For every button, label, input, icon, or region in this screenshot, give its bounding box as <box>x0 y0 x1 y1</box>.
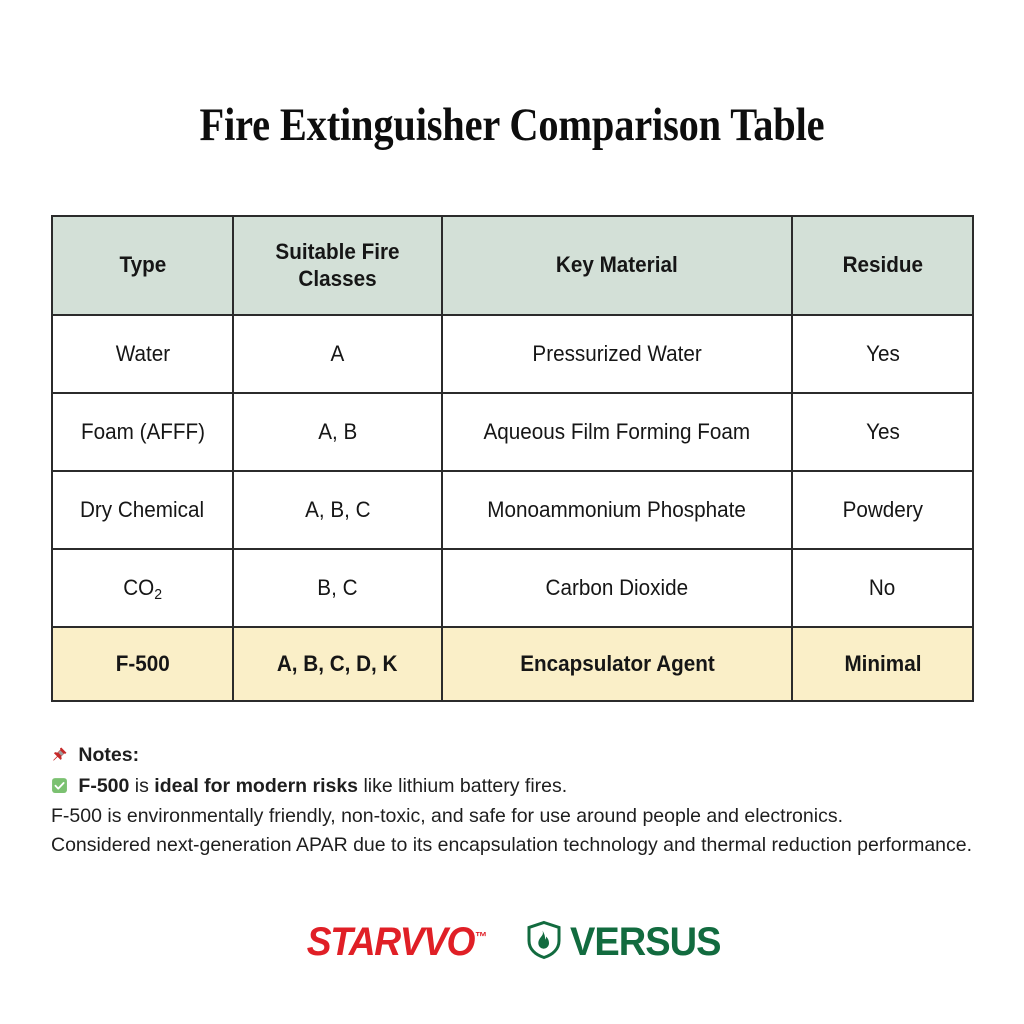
notes-check-bold-2: ideal for modern risks <box>154 775 358 797</box>
column-header-suitable-fire-classes: Suitable Fire Classes <box>233 216 442 315</box>
cell-residue: Minimal <box>792 627 973 701</box>
table-header: Type Suitable Fire Classes Key Material … <box>52 216 973 315</box>
cell-residue: Powdery <box>792 471 973 549</box>
notes-heading: Notes: <box>51 741 974 772</box>
table-row: Water A Pressurized Water Yes <box>52 315 973 393</box>
cell-type: Foam (AFFF) <box>52 393 233 471</box>
cell-classes: A, B <box>233 393 442 471</box>
versus-logo: VERSUS <box>526 920 725 965</box>
cell-type: Water <box>52 315 233 393</box>
cell-material: Monoammonium Phosphate <box>442 471 792 549</box>
cell-material: Aqueous Film Forming Foam <box>442 393 792 471</box>
notes-check-plain-1: is <box>129 775 154 797</box>
notes-check-bold-1: F-500 <box>78 775 129 797</box>
page-title: Fire Extinguisher Comparison Table <box>72 98 953 152</box>
cell-material: Carbon Dioxide <box>442 549 792 627</box>
cell-residue: Yes <box>792 315 973 393</box>
cell-classes: B, C <box>233 549 442 627</box>
versus-wordmark: VERSUS <box>570 920 721 965</box>
cell-material: Encapsulator Agent <box>442 627 792 701</box>
cell-classes: A, B, C, D, K <box>233 627 442 701</box>
shield-flame-icon <box>526 920 562 965</box>
cell-material: Pressurized Water <box>442 315 792 393</box>
check-mark-button-icon <box>51 774 68 803</box>
notes-section: Notes: F-500 is ideal for modern risks l… <box>51 741 974 860</box>
cell-residue: No <box>792 549 973 627</box>
notes-check-line: F-500 is ideal for modern risks like lit… <box>51 772 974 803</box>
cell-type-base: CO <box>123 575 154 600</box>
table-body: Water A Pressurized Water Yes Foam (AFFF… <box>52 315 973 701</box>
starvvo-logo: STARVVO™ <box>307 920 487 965</box>
footer-logos: STARVVO™ VERSUS <box>0 920 1024 965</box>
notes-paragraph: F-500 is environmentally friendly, non-t… <box>51 802 974 831</box>
starvvo-wordmark: STARVVO <box>307 920 474 964</box>
column-header-residue: Residue <box>792 216 973 315</box>
table-row: CO2 B, C Carbon Dioxide No <box>52 549 973 627</box>
comparison-table-container: Type Suitable Fire Classes Key Material … <box>51 215 972 702</box>
column-header-key-material: Key Material <box>442 216 792 315</box>
cell-type: Dry Chemical <box>52 471 233 549</box>
table-row: Dry Chemical A, B, C Monoammonium Phosph… <box>52 471 973 549</box>
table-row: Foam (AFFF) A, B Aqueous Film Forming Fo… <box>52 393 973 471</box>
trademark-icon: ™ <box>475 929 487 944</box>
column-header-type: Type <box>52 216 233 315</box>
fire-extinguisher-comparison-table: Type Suitable Fire Classes Key Material … <box>51 215 974 702</box>
cell-classes: A, B, C <box>233 471 442 549</box>
notes-heading-label: Notes: <box>78 744 139 766</box>
table-row-highlighted-f500: F-500 A, B, C, D, K Encapsulator Agent M… <box>52 627 973 701</box>
pushpin-icon <box>51 743 68 772</box>
table-header-row: Type Suitable Fire Classes Key Material … <box>52 216 973 315</box>
notes-check-plain-2: like lithium battery fires. <box>358 775 567 797</box>
cell-classes: A <box>233 315 442 393</box>
cell-type: F-500 <box>52 627 233 701</box>
notes-paragraph: Considered next-generation APAR due to i… <box>51 831 974 860</box>
cell-type-subscript: 2 <box>154 586 162 603</box>
cell-type: CO2 <box>52 549 233 627</box>
cell-residue: Yes <box>792 393 973 471</box>
notes-body: F-500 is environmentally friendly, non-t… <box>51 802 974 859</box>
